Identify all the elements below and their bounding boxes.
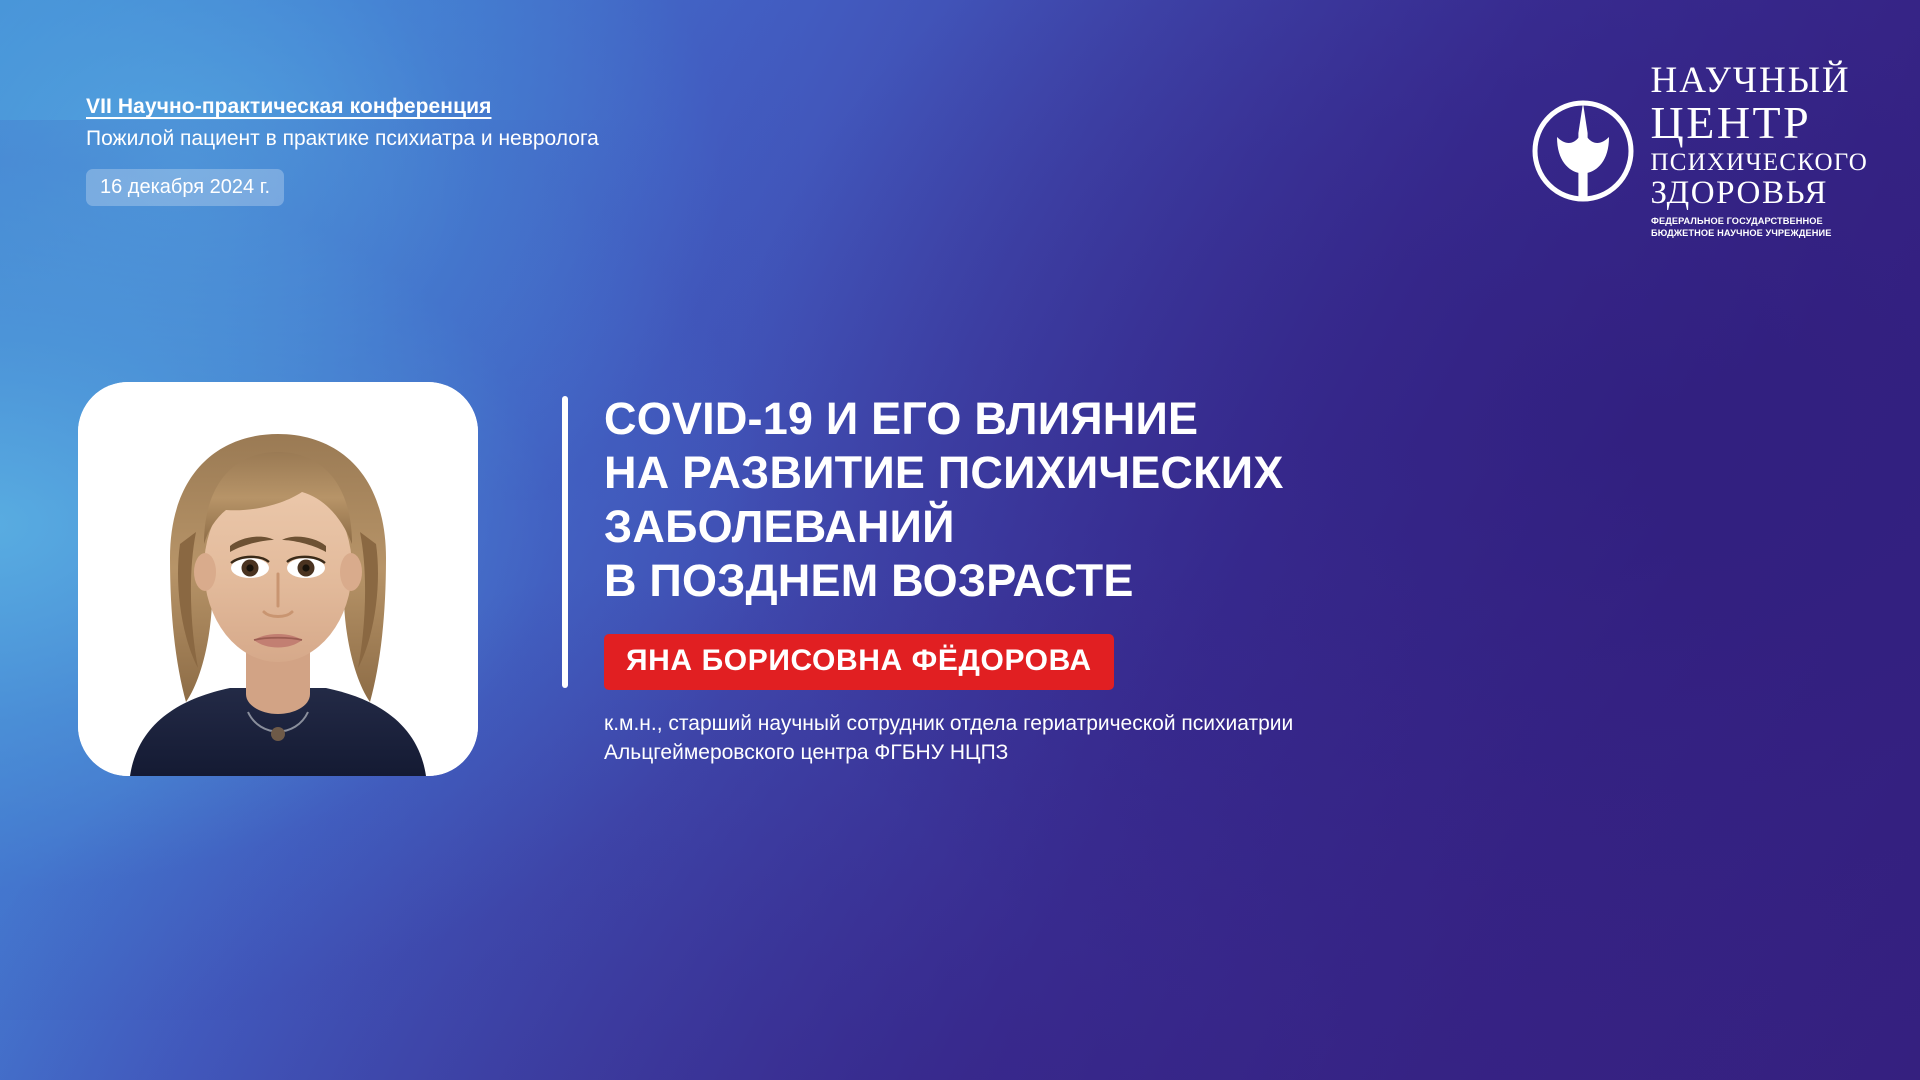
speaker-affiliation: к.м.н., старший научный сотрудник отдела… (604, 709, 1742, 769)
logo-line-3: ПСИХИЧЕСКОГО (1651, 150, 1868, 176)
speaker-affiliation-line-1: к.м.н., старший научный сотрудник отдела… (604, 709, 1742, 739)
talk-title: COVID-19 И ЕГО ВЛИЯНИЕ НА РАЗВИТИЕ ПСИХИ… (604, 392, 1742, 608)
organization-logo: НАУЧНЫЙ ЦЕНТР ПСИХИЧЕСКОГО ЗДОРОВЬЯ ФЕДЕ… (1529, 62, 1868, 240)
conference-subtitle: Пожилой пациент в практике психиатра и н… (86, 126, 599, 152)
logo-wordmark: НАУЧНЫЙ ЦЕНТР ПСИХИЧЕСКОГО ЗДОРОВЬЯ ФЕДЕ… (1651, 62, 1868, 240)
talk-title-line-2: НА РАЗВИТИЕ ПСИХИЧЕСКИХ (604, 446, 1742, 500)
logo-line-1: НАУЧНЫЙ (1651, 62, 1851, 99)
speaker-name-badge: ЯНА БОРИСОВНА ФЁДОРОВА (604, 634, 1114, 690)
logo-line-4: ЗДОРОВЬЯ (1651, 177, 1828, 211)
presentation-slide: VII Научно-практическая конференция Пожи… (0, 0, 1920, 1080)
logo-fineprint-line-1: ФЕДЕРАЛЬНОЕ ГОСУДАРСТВЕННОЕ (1651, 216, 1823, 228)
psi-emblem-icon (1529, 97, 1637, 205)
conference-header: VII Научно-практическая конференция Пожи… (86, 94, 599, 206)
title-accent-bar (562, 396, 568, 688)
talk-content: COVID-19 И ЕГО ВЛИЯНИЕ НА РАЗВИТИЕ ПСИХИ… (562, 392, 1742, 768)
conference-date-badge: 16 декабря 2024 г. (86, 169, 284, 206)
talk-title-line-3: ЗАБОЛЕВАНИЙ (604, 500, 1742, 554)
conference-title: VII Научно-практическая конференция (86, 94, 599, 120)
logo-line-2: ЦЕНТР (1651, 100, 1812, 147)
speaker-affiliation-line-2: Альцгеймеровского центра ФГБНУ НЦПЗ (604, 738, 1742, 768)
talk-title-line-4: В ПОЗДНЕМ ВОЗРАСТЕ (604, 554, 1742, 608)
logo-fineprint-line-2: БЮДЖЕТНОЕ НАУЧНОЕ УЧРЕЖДЕНИЕ (1651, 228, 1831, 240)
speaker-photo (78, 382, 478, 776)
talk-title-line-1: COVID-19 И ЕГО ВЛИЯНИЕ (604, 392, 1742, 446)
